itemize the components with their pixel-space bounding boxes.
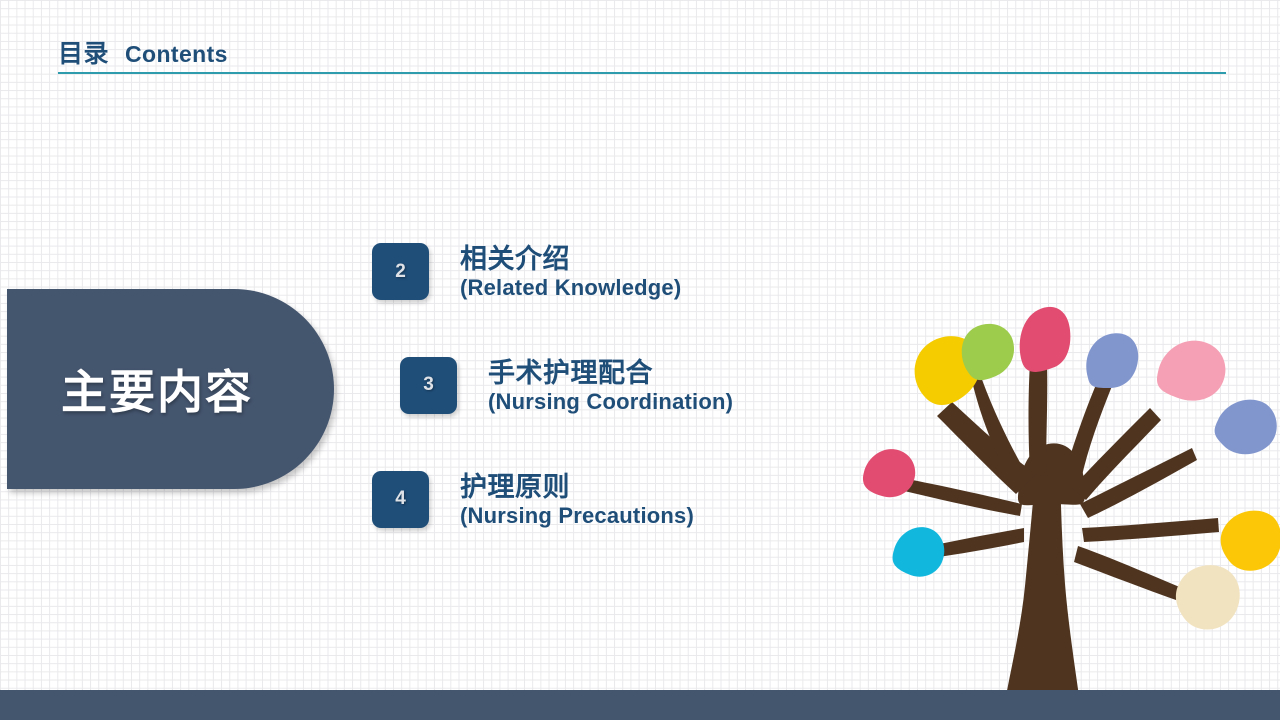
leaf-crimson-left: [863, 449, 915, 497]
contents-list: 2 相关介绍 (Related Knowledge) 3 手术护理配合 (Nur…: [372, 243, 842, 529]
contents-item-title-cn: 手术护理配合: [488, 358, 733, 388]
main-content-panel: 主要内容: [7, 289, 334, 489]
main-content-panel-label: 主要内容: [61, 356, 253, 422]
contents-item-title-cn: 护理原则: [460, 472, 694, 502]
bottom-bar: [0, 690, 1280, 720]
contents-item-title-cn: 相关介绍: [460, 244, 681, 274]
contents-item-3[interactable]: 3 手术护理配合 (Nursing Coordination): [400, 357, 842, 415]
tree-branch-right-mid: [1082, 518, 1219, 542]
contents-item-2[interactable]: 2 相关介绍 (Related Knowledge): [372, 243, 842, 301]
page-title: 目录 Contents: [58, 34, 228, 70]
leaf-crimson-top: [1020, 307, 1071, 372]
contents-item-text: 护理原则 (Nursing Precautions): [460, 471, 694, 529]
leaf-cream-bottom-right: [1176, 565, 1240, 629]
contents-item-number-badge: 2: [372, 243, 429, 300]
contents-item-title-en: (Related Knowledge): [460, 276, 681, 301]
contents-item-4[interactable]: 4 护理原则 (Nursing Precautions): [372, 471, 842, 529]
leaf-periwinkle-right: [1215, 400, 1277, 455]
tree-branch-right-lower: [1074, 546, 1182, 600]
leaf-yellow-right: [1221, 511, 1280, 571]
contents-item-title-en: (Nursing Precautions): [460, 504, 694, 529]
contents-item-text: 手术护理配合 (Nursing Coordination): [488, 357, 733, 415]
leaf-periwinkle-top: [1086, 333, 1138, 388]
page-title-cn: 目录: [58, 34, 109, 70]
slide-canvas: 目录 Contents 主要内容 2 相关介绍 (Related Knowled…: [0, 0, 1280, 720]
contents-item-title-en: (Nursing Coordination): [488, 390, 733, 415]
leaf-pink-top-right: [1157, 341, 1225, 401]
contents-item-number-badge: 3: [400, 357, 457, 414]
tree-trunk-and-branches: [900, 362, 1219, 696]
leaf-green-top: [962, 324, 1014, 380]
contents-item-text: 相关介绍 (Related Knowledge): [460, 243, 681, 301]
contents-item-number-badge: 4: [372, 471, 429, 528]
leaf-cyan-left: [893, 527, 945, 577]
page-title-en: Contents: [125, 41, 228, 68]
tree-illustration: [840, 296, 1280, 696]
tree-branch-left-mid: [900, 478, 1022, 516]
tree-branch-center: [1029, 362, 1048, 476]
header-divider: [58, 72, 1226, 74]
